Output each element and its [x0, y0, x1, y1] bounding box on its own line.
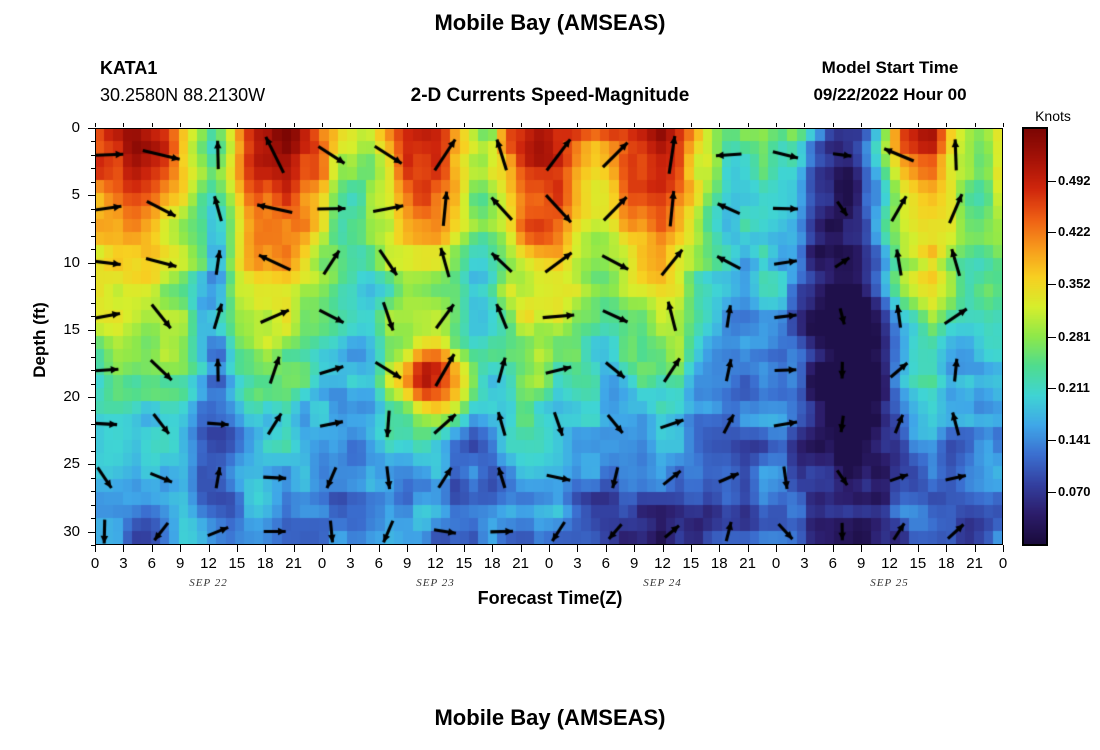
x-tick-mark	[577, 545, 578, 552]
x-tick-mark	[606, 545, 607, 552]
x-tick-label: 0	[80, 555, 110, 572]
x-tick-mark	[691, 545, 692, 552]
x-tick-mark	[719, 545, 720, 552]
currents-heatmap-plot	[95, 128, 1003, 545]
y-tick-minor-mark	[91, 209, 95, 210]
x-tick-top-mark	[180, 123, 181, 127]
y-tick-minor-mark	[91, 505, 95, 506]
x-tick-mark	[237, 545, 238, 552]
colorbar-tick-label: 0.492	[1058, 173, 1091, 188]
x-tick-label: 6	[364, 555, 394, 572]
x-axis-day-label: SEP 23	[391, 577, 481, 589]
station-id-label: KATA1	[100, 58, 157, 79]
colorbar-tick-label: 0.211	[1058, 380, 1090, 395]
x-tick-mark	[521, 545, 522, 552]
y-tick-minor-mark	[91, 384, 95, 385]
x-tick-top-mark	[379, 123, 380, 127]
chart-title-top: Mobile Bay (AMSEAS)	[0, 10, 1100, 36]
colorbar-tick-mark	[1048, 388, 1056, 389]
x-tick-mark	[123, 545, 124, 552]
y-tick-minor-mark	[91, 316, 95, 317]
y-tick-minor-mark	[91, 155, 95, 156]
x-tick-mark	[265, 545, 266, 552]
y-tick-mark	[88, 330, 95, 331]
y-tick-minor-mark	[91, 141, 95, 142]
x-tick-mark	[180, 545, 181, 552]
x-tick-top-mark	[691, 123, 692, 127]
colorbar-tick-mark	[1048, 337, 1056, 338]
colorbar-gradient	[1024, 129, 1046, 544]
x-tick-label: 3	[108, 555, 138, 572]
y-tick-mark	[88, 128, 95, 129]
x-tick-top-mark	[918, 123, 919, 127]
y-tick-minor-mark	[91, 222, 95, 223]
y-tick-minor-mark	[91, 249, 95, 250]
x-tick-top-mark	[95, 123, 96, 127]
colorbar-tick-label: 0.281	[1058, 329, 1091, 344]
x-tick-top-mark	[436, 123, 437, 127]
x-tick-top-mark	[322, 123, 323, 127]
x-tick-top-mark	[464, 123, 465, 127]
x-tick-label: 12	[421, 555, 451, 572]
x-tick-top-mark	[719, 123, 720, 127]
y-tick-minor-mark	[91, 491, 95, 492]
y-tick-label: 10	[38, 254, 80, 271]
y-tick-minor-mark	[91, 410, 95, 411]
x-tick-mark	[464, 545, 465, 552]
x-tick-top-mark	[577, 123, 578, 127]
y-tick-minor-mark	[91, 168, 95, 169]
colorbar-title: Knots	[1018, 108, 1088, 124]
x-tick-label: 21	[506, 555, 536, 572]
x-tick-label: 3	[335, 555, 365, 572]
x-tick-label: 21	[733, 555, 763, 572]
y-tick-minor-mark	[91, 424, 95, 425]
x-tick-top-mark	[492, 123, 493, 127]
x-tick-top-mark	[265, 123, 266, 127]
x-tick-label: 18	[931, 555, 961, 572]
x-tick-label: 21	[279, 555, 309, 572]
x-tick-label: 18	[704, 555, 734, 572]
x-tick-label: 3	[562, 555, 592, 572]
x-tick-label: 15	[903, 555, 933, 572]
x-tick-top-mark	[123, 123, 124, 127]
x-tick-label: 9	[392, 555, 422, 572]
x-tick-mark	[322, 545, 323, 552]
x-tick-mark	[804, 545, 805, 552]
y-tick-label: 25	[38, 455, 80, 472]
x-tick-label: 3	[789, 555, 819, 572]
colorbar-tick-mark	[1048, 284, 1056, 285]
y-tick-minor-mark	[91, 303, 95, 304]
x-tick-label: 18	[477, 555, 507, 572]
x-tick-top-mark	[549, 123, 550, 127]
y-tick-mark	[88, 464, 95, 465]
x-tick-label: 0	[307, 555, 337, 572]
x-tick-mark	[748, 545, 749, 552]
y-tick-minor-mark	[91, 451, 95, 452]
y-tick-minor-mark	[91, 437, 95, 438]
x-tick-top-mark	[606, 123, 607, 127]
y-tick-minor-mark	[91, 289, 95, 290]
x-tick-label: 15	[449, 555, 479, 572]
y-tick-minor-mark	[91, 370, 95, 371]
x-tick-label: 6	[818, 555, 848, 572]
x-tick-mark	[890, 545, 891, 552]
x-tick-top-mark	[890, 123, 891, 127]
x-tick-top-mark	[975, 123, 976, 127]
x-tick-label: 12	[875, 555, 905, 572]
x-axis-day-label: SEP 25	[845, 577, 935, 589]
x-tick-top-mark	[663, 123, 664, 127]
y-tick-minor-mark	[91, 182, 95, 183]
x-tick-mark	[350, 545, 351, 552]
x-tick-top-mark	[1003, 123, 1004, 127]
x-tick-top-mark	[861, 123, 862, 127]
model-start-time-label: Model Start Time	[770, 58, 1010, 78]
x-tick-mark	[918, 545, 919, 552]
x-tick-top-mark	[776, 123, 777, 127]
x-tick-label: 21	[960, 555, 990, 572]
y-tick-mark	[88, 195, 95, 196]
x-tick-top-mark	[946, 123, 947, 127]
colorbar-tick-label: 0.141	[1058, 432, 1091, 447]
colorbar-tick-label: 0.422	[1058, 224, 1091, 239]
x-tick-top-mark	[833, 123, 834, 127]
x-tick-label: 0	[761, 555, 791, 572]
colorbar-tick-mark	[1048, 181, 1056, 182]
x-axis-title: Forecast Time(Z)	[0, 588, 1100, 609]
x-tick-top-mark	[152, 123, 153, 127]
x-tick-mark	[294, 545, 295, 552]
x-tick-mark	[861, 545, 862, 552]
x-tick-label: 0	[988, 555, 1018, 572]
x-tick-mark	[663, 545, 664, 552]
colorbar-tick-mark	[1048, 440, 1056, 441]
model-start-time-value: 09/22/2022 Hour 00	[770, 85, 1010, 105]
x-axis-day-label: SEP 24	[618, 577, 708, 589]
y-tick-minor-mark	[91, 343, 95, 344]
y-tick-label: 5	[38, 186, 80, 203]
colorbar-tick-label: 0.070	[1058, 484, 1091, 499]
x-tick-mark	[379, 545, 380, 552]
x-tick-top-mark	[350, 123, 351, 127]
x-tick-mark	[209, 545, 210, 552]
y-tick-label: 15	[38, 321, 80, 338]
x-tick-label: 12	[194, 555, 224, 572]
y-tick-minor-mark	[91, 357, 95, 358]
x-tick-mark	[833, 545, 834, 552]
y-tick-mark	[88, 397, 95, 398]
colorbar-tick-label: 0.352	[1058, 276, 1091, 291]
x-tick-mark	[95, 545, 96, 552]
x-tick-top-mark	[407, 123, 408, 127]
x-tick-top-mark	[237, 123, 238, 127]
x-tick-mark	[152, 545, 153, 552]
y-tick-mark	[88, 263, 95, 264]
x-tick-mark	[549, 545, 550, 552]
y-tick-label: 0	[38, 119, 80, 136]
x-tick-top-mark	[209, 123, 210, 127]
colorbar-tick-mark	[1048, 492, 1056, 493]
x-axis-day-label: SEP 22	[164, 577, 254, 589]
x-tick-label: 6	[137, 555, 167, 572]
x-tick-label: 9	[846, 555, 876, 572]
x-tick-top-mark	[804, 123, 805, 127]
x-tick-top-mark	[294, 123, 295, 127]
x-tick-label: 15	[676, 555, 706, 572]
x-tick-label: 12	[648, 555, 678, 572]
colorbar-tick-mark	[1048, 232, 1056, 233]
y-tick-minor-mark	[91, 518, 95, 519]
x-tick-top-mark	[634, 123, 635, 127]
y-tick-mark	[88, 532, 95, 533]
y-tick-label: 30	[38, 523, 80, 540]
y-tick-label: 20	[38, 388, 80, 405]
x-tick-label: 18	[250, 555, 280, 572]
x-tick-mark	[407, 545, 408, 552]
x-tick-label: 9	[619, 555, 649, 572]
y-tick-minor-mark	[91, 236, 95, 237]
x-tick-mark	[776, 545, 777, 552]
x-tick-label: 6	[591, 555, 621, 572]
chart-title-bottom: Mobile Bay (AMSEAS)	[0, 705, 1100, 731]
x-tick-mark	[436, 545, 437, 552]
x-tick-label: 9	[165, 555, 195, 572]
x-tick-mark	[975, 545, 976, 552]
x-tick-mark	[492, 545, 493, 552]
y-tick-minor-mark	[91, 276, 95, 277]
x-tick-label: 15	[222, 555, 252, 572]
x-tick-top-mark	[521, 123, 522, 127]
y-tick-minor-mark	[91, 478, 95, 479]
x-tick-label: 0	[534, 555, 564, 572]
x-tick-mark	[946, 545, 947, 552]
x-tick-top-mark	[748, 123, 749, 127]
x-tick-mark	[1003, 545, 1004, 552]
x-tick-mark	[634, 545, 635, 552]
